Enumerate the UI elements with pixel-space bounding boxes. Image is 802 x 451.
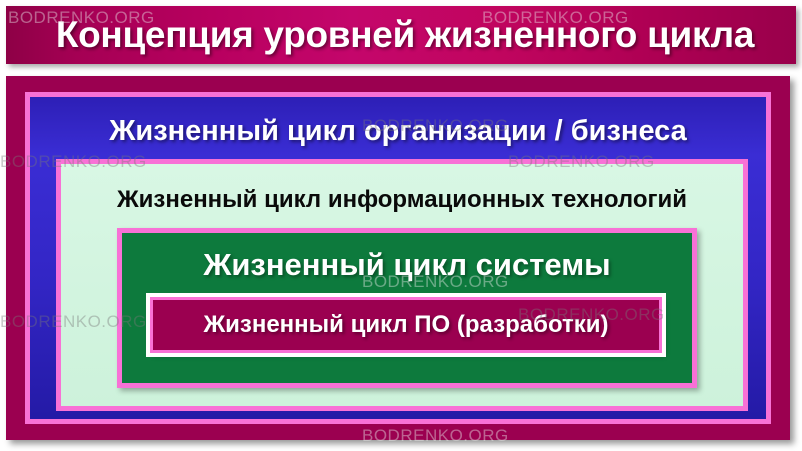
watermark-text: BODRENKO.ORG	[362, 272, 509, 292]
slide-canvas: Концепция уровней жизненного цикла Жизне…	[0, 0, 802, 451]
watermark-text: BODRENKO.ORG	[0, 152, 147, 172]
watermark-text: BODRENKO.ORG	[508, 152, 655, 172]
watermark-text: BODRENKO.ORG	[362, 116, 509, 136]
watermark-text: BODRENKO.ORG	[362, 426, 509, 446]
watermark-text: BODRENKO.ORG	[518, 305, 665, 325]
watermark-text: BODRENKO.ORG	[0, 312, 147, 332]
watermark-text: BODRENKO.ORG	[482, 8, 629, 28]
watermark-layer: BODRENKO.ORGBODRENKO.ORGBODRENKO.ORGBODR…	[0, 0, 802, 451]
watermark-text: BODRENKO.ORG	[8, 8, 155, 28]
